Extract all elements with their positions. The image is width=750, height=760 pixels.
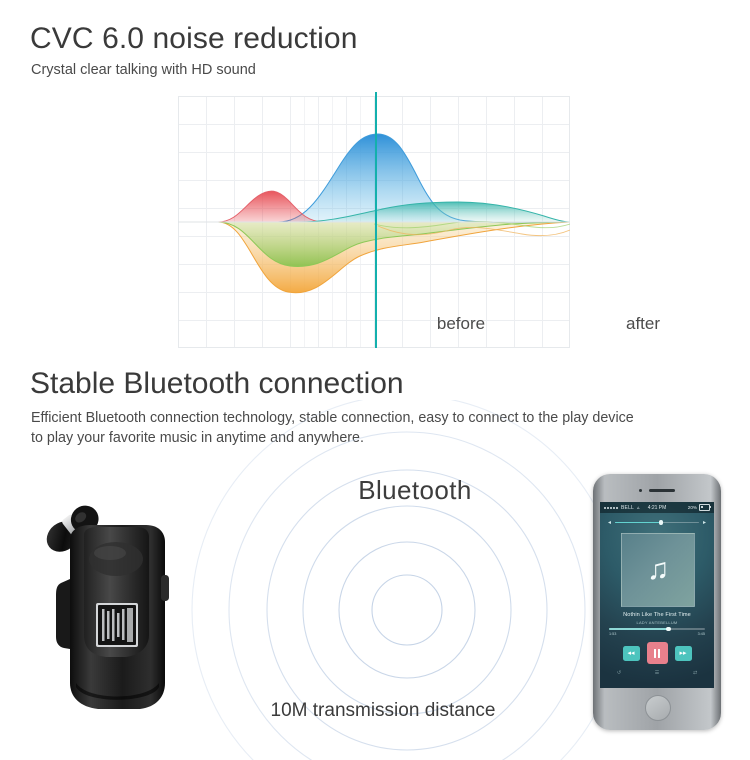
phone-screen: BELL ▵ 4:21 PM 20% ◂ ▸ ♫ Not <box>600 502 714 688</box>
bluetooth-word-text: Bluetooth <box>358 475 471 505</box>
product-marketing-page: CVC 6.0 noise reduction Crystal clear ta… <box>0 0 750 750</box>
progress-slider[interactable] <box>609 628 705 630</box>
album-art: ♫ <box>621 533 695 607</box>
waveform-graphic <box>178 96 570 348</box>
chart-label-before: before <box>406 314 516 334</box>
earphone-product-image <box>28 487 178 722</box>
noise-reduction-chart: before after <box>178 96 570 348</box>
speaker-low-icon: ◂ <box>608 520 611 526</box>
track-artist: LADY ANTEBELLUM <box>604 620 710 625</box>
battery-icon <box>699 504 710 511</box>
track-title: Nothin Like The First Time <box>604 612 710 618</box>
status-bar: BELL ▵ 4:21 PM 20% <box>600 502 714 513</box>
time-row: 1:53 3:45 <box>609 632 705 636</box>
track-info: Nothin Like The First Time LADY ANTEBELL… <box>604 612 710 625</box>
earphone-label-panel <box>96 603 138 647</box>
time-total: 3:45 <box>698 632 705 636</box>
shuffle-icon[interactable]: ⇄ <box>693 670 697 676</box>
progress-area[interactable]: 1:53 3:45 <box>609 628 705 636</box>
progress-knob[interactable] <box>666 627 671 632</box>
volume-knob[interactable] <box>659 520 664 525</box>
volume-fill <box>615 522 661 524</box>
transmission-caption-text: 10M transmission distance <box>271 700 496 721</box>
forward-button[interactable]: ▸▸ <box>675 646 692 661</box>
before-after-divider <box>375 92 377 348</box>
speaker-high-icon: ▸ <box>703 520 706 526</box>
chart-label-after: after <box>588 314 698 334</box>
section1-title: CVC 6.0 noise reduction <box>30 22 357 56</box>
front-camera-icon <box>639 489 642 492</box>
volume-slider-row[interactable]: ◂ ▸ <box>608 518 706 527</box>
bottom-icon-row: ↺ ☰ ⇄ <box>600 670 714 676</box>
home-button[interactable] <box>645 695 671 721</box>
progress-fill <box>609 628 669 630</box>
playlist-icon[interactable]: ☰ <box>655 670 659 676</box>
smartphone-music-player: BELL ▵ 4:21 PM 20% ◂ ▸ ♫ Not <box>593 474 721 730</box>
status-time: 4:21 PM <box>600 505 714 511</box>
playback-controls: ◂◂ ▸▸ <box>600 642 714 664</box>
pause-button[interactable] <box>647 642 668 664</box>
volume-slider[interactable] <box>615 522 699 524</box>
section2-title: Stable Bluetooth connection <box>30 367 404 401</box>
repeat-icon[interactable]: ↺ <box>617 670 621 676</box>
rewind-button[interactable]: ◂◂ <box>623 646 640 661</box>
music-note-icon: ♫ <box>647 555 670 585</box>
section1-subtitle: Crystal clear talking with HD sound <box>31 62 256 78</box>
earpiece-speaker <box>649 489 675 492</box>
time-elapsed: 1:53 <box>609 632 616 636</box>
